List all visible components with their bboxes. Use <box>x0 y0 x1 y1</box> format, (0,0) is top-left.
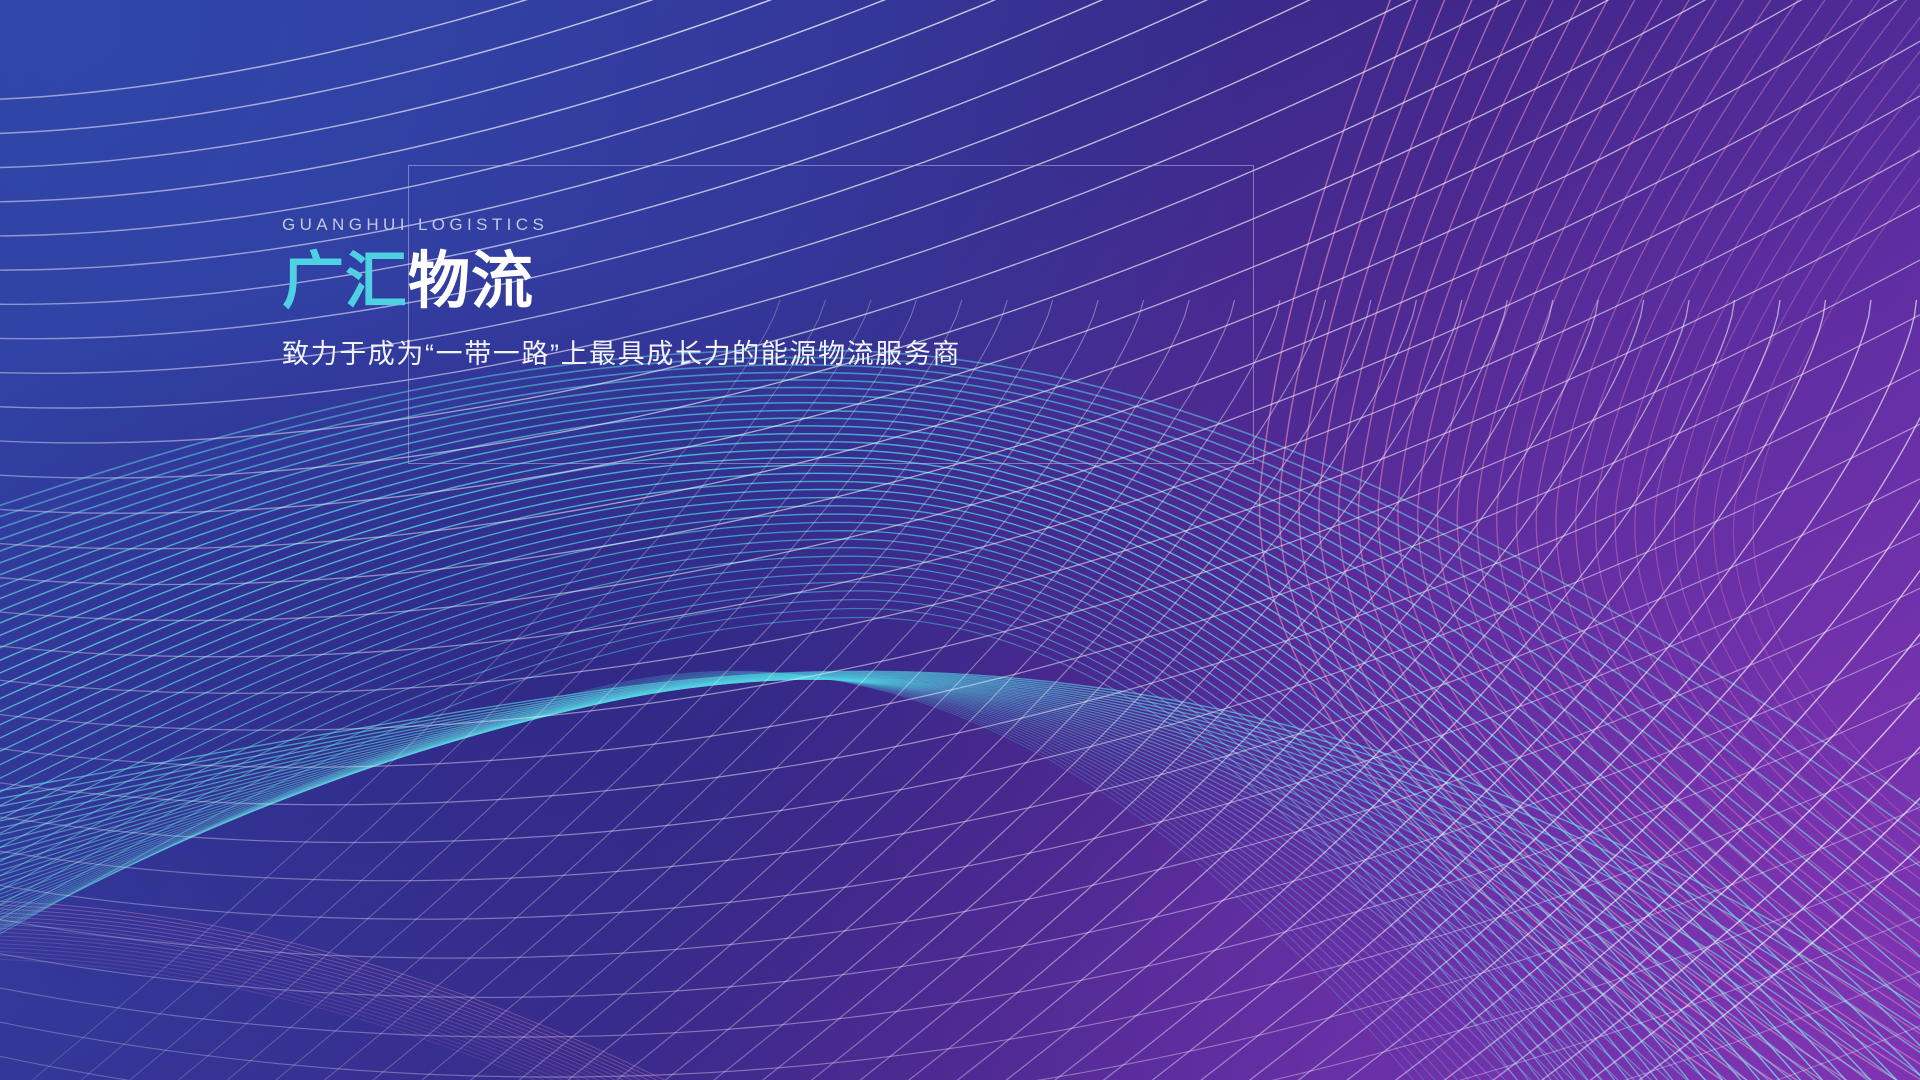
brand-eyebrow-text: GUANGHUI LOGISTICS <box>282 216 1282 233</box>
brand-wordmark: 广汇物流 <box>282 249 1282 315</box>
slide-canvas: GUANGHUI LOGISTICS 广汇物流 致力于成为“一带一路”上最具成长… <box>0 0 1920 1080</box>
wordmark-rest-text: 物流 <box>408 247 534 316</box>
wordmark-accent-text: 广汇 <box>282 247 408 316</box>
decorative-line-art <box>0 0 1920 1080</box>
brand-tagline-text: 致力于成为“一带一路”上最具成长力的能源物流服务商 <box>282 337 1282 372</box>
hero-text-block: GUANGHUI LOGISTICS 广汇物流 致力于成为“一带一路”上最具成长… <box>282 216 1282 372</box>
